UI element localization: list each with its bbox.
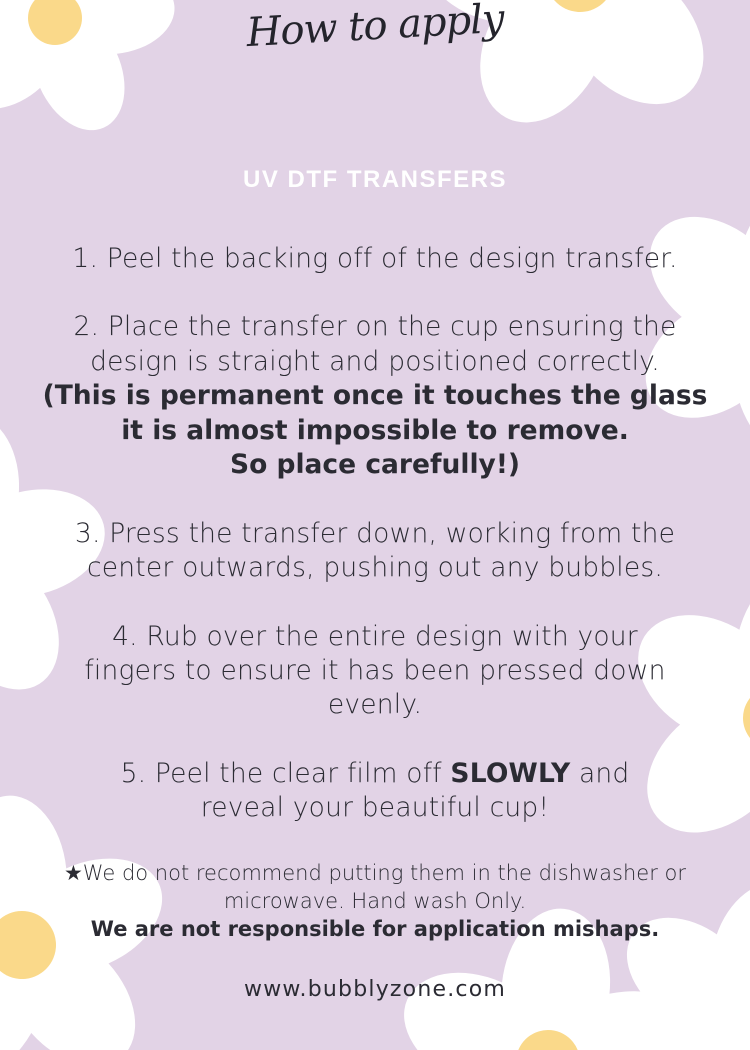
- step-5-before: 5. Peel the clear film off: [121, 758, 451, 789]
- disclaimer-liability: We are not responsible for application m…: [14, 916, 736, 944]
- poster-canvas: How to apply UV DTF TRANSFERS 1. Peel th…: [0, 0, 750, 1050]
- spacer: [16, 723, 734, 757]
- step-3: 3. Press the transfer down, working from…: [16, 517, 734, 586]
- instruction-steps: 1. Peel the backing off of the design tr…: [0, 242, 750, 826]
- step-1: 1. Peel the backing off of the design tr…: [16, 242, 734, 276]
- poster-header: How to apply UV DTF TRANSFERS: [0, 0, 750, 242]
- step-5-emphasis: SLOWLY: [450, 758, 570, 789]
- step-5: 5. Peel the clear film off SLOWLY and re…: [16, 757, 734, 826]
- spacer: [16, 483, 734, 517]
- step-4: 4. Rub over the entire design with your …: [16, 620, 734, 723]
- poster-footer: ★We do not recommend putting them in the…: [0, 826, 750, 1003]
- script-title: How to apply: [0, 0, 750, 67]
- spacer: [14, 943, 736, 977]
- spacer: [16, 586, 734, 620]
- website-url: www.bubblyzone.com: [14, 977, 736, 1002]
- spacer: [14, 826, 736, 860]
- disclaimer-text: ★We do not recommend putting them in the…: [14, 860, 736, 916]
- step-2: 2. Place the transfer on the cup ensurin…: [16, 310, 734, 379]
- spacer: [16, 276, 734, 310]
- headline-title: UV DTF TRANSFERS: [0, 168, 750, 192]
- step-2-note: (This is permanent once it touches the g…: [16, 379, 734, 482]
- poster-content: How to apply UV DTF TRANSFERS 1. Peel th…: [0, 0, 750, 1050]
